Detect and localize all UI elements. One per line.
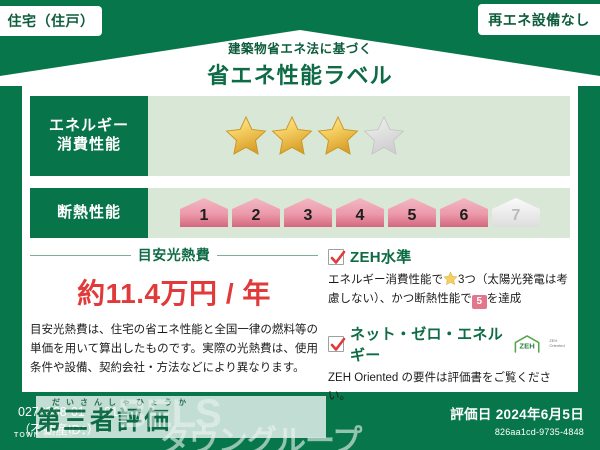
label-footer: 0276368-01 101 （不動産ID：） 評価日 2024年6月5日 82…: [0, 392, 600, 450]
zeh-standard-title: ZEH水準: [350, 246, 412, 267]
checkbox-checked-icon[interactable]: [328, 336, 344, 352]
energy-performance-row: エネルギー 消費性能: [30, 96, 570, 176]
zeh-standard-body-pre: エネルギー消費性能で: [328, 274, 443, 286]
footer-id-value: 0276368-01 101: [18, 403, 118, 421]
cost-rule-left: [30, 255, 131, 256]
zeh-criteria-block: ZEH水準 エネルギー消費性能で 3つ（太陽光発電は考慮しない）、かつ断熱性能で…: [328, 246, 570, 406]
energy-star-rating: [148, 96, 570, 176]
energy-performance-label: 住宅（住戸） 再エネ設備なし 建築物省エネ法に基づく 省エネ性能ラベル エネルギ…: [0, 0, 600, 450]
cost-heading-row: 目安光熱費: [30, 245, 318, 265]
inline-insulation-level-badge: 5: [472, 295, 487, 309]
insulation-chip-6-label: 6: [438, 207, 490, 225]
zeh-standard-header: ZEH水準: [328, 246, 570, 267]
cost-heading-label: 目安光熱費: [138, 245, 211, 265]
energy-label-line2: 消費性能: [57, 136, 121, 155]
star-icon-filled-1: [224, 114, 268, 158]
evaluation-code: 826aa1cd-9735-4848: [450, 427, 584, 437]
page-title: 省エネ性能ラベル: [0, 58, 600, 90]
checkbox-checked-icon[interactable]: [328, 249, 344, 265]
cost-rule-right: [217, 255, 318, 256]
star-icon-filled-3: [316, 114, 360, 158]
insulation-chip-1-label: 1: [178, 207, 230, 225]
check-icon: [329, 249, 347, 267]
insulation-chip-7-label: 7: [490, 207, 542, 225]
insulation-chip-3-label: 3: [282, 207, 334, 225]
badge-building-type-label: 住宅（住戸）: [8, 11, 95, 31]
energy-performance-row-label: エネルギー 消費性能: [30, 96, 148, 176]
insulation-performance-row-label: 断熱性能: [30, 188, 148, 238]
zeh-standard-item: ZEH水準 エネルギー消費性能で 3つ（太陽光発電は考慮しない）、かつ断熱性能で…: [328, 246, 570, 309]
star-icon-empty-4: [362, 114, 406, 158]
check-icon: [329, 336, 347, 354]
svg-text:ZEH: ZEH: [520, 341, 536, 350]
footer-property-id: 0276368-01 101 （不動産ID：）: [18, 403, 118, 439]
page-title-block: 建築物省エネ法に基づく 省エネ性能ラベル: [0, 38, 600, 90]
badge-renewable-equipment-label: 再エネ設備なし: [488, 10, 590, 30]
star-icon-inline: [443, 271, 458, 286]
insulation-chip-5: 5: [386, 196, 438, 230]
footer-id-caption: （不動産ID：）: [18, 421, 118, 439]
evaluation-date-label: 評価日: [450, 407, 491, 422]
insulation-chip-4-label: 4: [334, 207, 386, 225]
insulation-chip-1: 1: [178, 196, 230, 230]
star-icon-filled-2: [270, 114, 314, 158]
zeh-logo-icon: ZEH: [511, 333, 543, 355]
insulation-chip-6: 6: [438, 196, 490, 230]
cost-disclaimer-text: 目安光熱費は、住宅の省エネ性能と全国一律の燃料等の単価を用いて算出したものです。…: [30, 321, 318, 378]
evaluation-date: 評価日 2024年6月5日: [450, 403, 584, 423]
insulation-level-scale: 1 2 3 4: [148, 188, 570, 238]
label-subtitle: 建築物省エネ法に基づく: [0, 38, 600, 57]
zeh-standard-body: エネルギー消費性能で 3つ（太陽光発電は考慮しない）、かつ断熱性能で5を達成: [328, 271, 570, 309]
net-zero-energy-header: ネット・ゼロ・エネルギー ZEH ZEH Oriented: [328, 323, 570, 365]
insulation-chip-2: 2: [230, 196, 282, 230]
zeh-standard-body-post: を達成: [487, 293, 522, 305]
insulation-chip-3: 3: [282, 196, 334, 230]
cost-amount-value: 約11.4万円 / 年: [30, 272, 318, 312]
insulation-chip-7: 7: [490, 196, 542, 230]
insulation-chip-2-label: 2: [230, 207, 282, 225]
estimated-utility-cost-block: 目安光熱費 約11.4万円 / 年 目安光熱費は、住宅の省エネ性能と全国一律の燃…: [30, 245, 318, 378]
insulation-label: 断熱性能: [57, 204, 121, 223]
evaluation-date-value: 2024年6月5日: [496, 407, 584, 422]
net-zero-energy-title: ネット・ゼロ・エネルギー: [350, 323, 505, 365]
insulation-chip-5-label: 5: [386, 207, 438, 225]
insulation-chip-4: 4: [334, 196, 386, 230]
footer-evaluation-info: 評価日 2024年6月5日 826aa1cd-9735-4848: [450, 403, 584, 437]
insulation-performance-row: 断熱性能 1 2: [30, 188, 570, 238]
zeh-logo-caption: ZEH Oriented: [549, 339, 570, 348]
energy-label-line1: エネルギー: [49, 117, 129, 136]
